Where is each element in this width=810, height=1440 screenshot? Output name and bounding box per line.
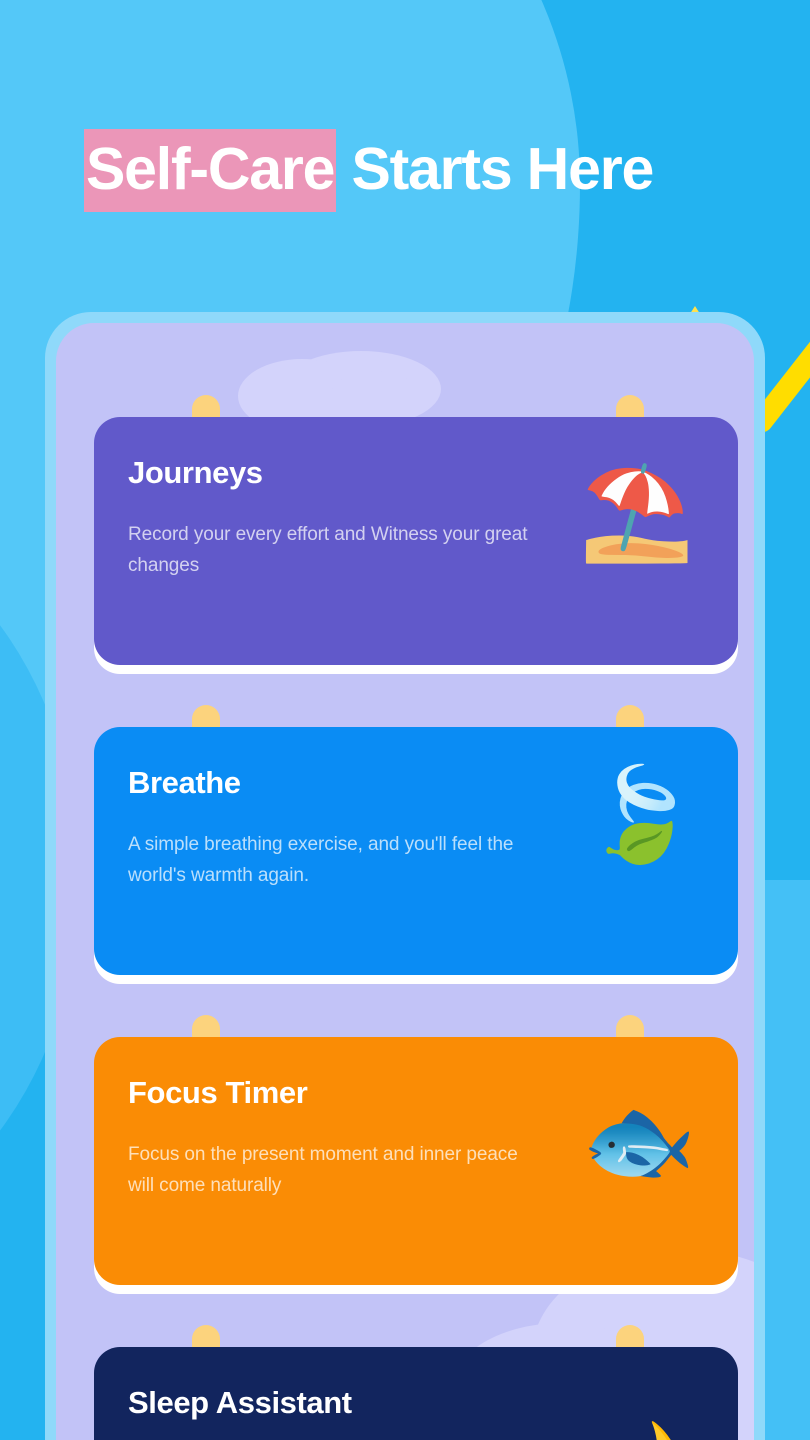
phone-screen: Journeys Record your every effort and Wi… <box>56 323 754 1440</box>
page-title: Self-Care Starts Here <box>84 140 653 199</box>
feature-card-sleep-assistant[interactable]: Sleep Assistant 🌙 <box>94 1347 738 1440</box>
page-title-rest: Starts Here <box>336 136 653 202</box>
card-description: Focus on the present moment and inner pe… <box>128 1140 528 1202</box>
feature-card-journeys[interactable]: Journeys Record your every effort and Wi… <box>94 417 738 665</box>
feature-card-breathe[interactable]: Breathe A simple breathing exercise, and… <box>94 727 738 975</box>
feature-card-focus-timer[interactable]: Focus Timer Focus on the present moment … <box>94 1037 738 1285</box>
leaf-fluttering-icon: 🍃 <box>583 769 698 861</box>
card-title: Sleep Assistant <box>128 1387 704 1418</box>
fish-icon: 🐟 <box>581 1095 696 1187</box>
beach-umbrella-icon: ⛱️ <box>579 467 694 559</box>
promo-screen: Self-Care Starts Here Journeys Record yo… <box>0 0 810 1440</box>
crescent-moon-icon: 🌙 <box>571 1425 686 1440</box>
card-description: A simple breathing exercise, and you'll … <box>128 830 528 892</box>
phone-mockup: Journeys Record your every effort and Wi… <box>45 312 765 1440</box>
page-title-highlight: Self-Care <box>84 129 336 212</box>
card-description: Record your every effort and Witness you… <box>128 520 528 582</box>
